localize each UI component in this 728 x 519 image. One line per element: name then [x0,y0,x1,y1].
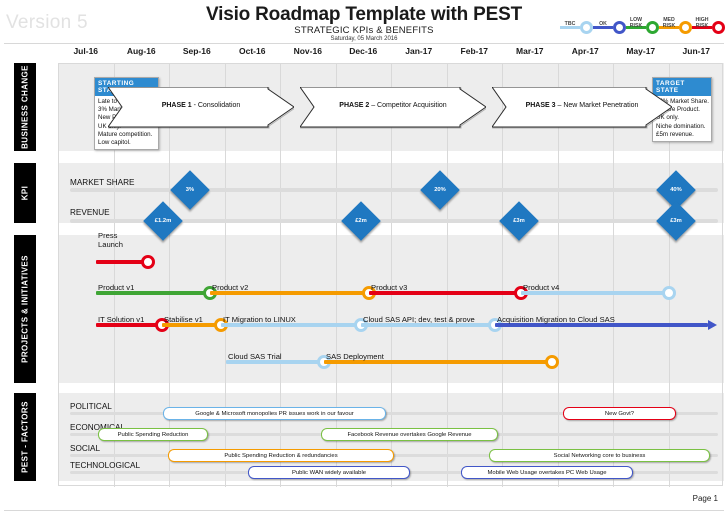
roadmap-canvas: STARTING STATELate to market.3% Market S… [58,63,724,487]
month-header-aug-16: Aug-16 [114,46,170,56]
timeline-month-header: Jul-16Aug-16Sep-16Oct-16Nov-16Dec-16Jan-… [0,46,728,62]
pest-pill-label: Public Spending Reduction [118,432,189,438]
footer-divider [4,510,724,511]
month-header-feb-17: Feb-17 [447,46,503,56]
project-label: Product v3 [371,283,407,292]
legend-label: TBC [558,22,582,27]
phase-label-3: PHASE 3 – New Market Penetration [492,102,672,109]
month-header-sep-16: Sep-16 [169,46,225,56]
kpi-row-label-revenue: REVENUE [70,208,110,217]
project-label: Acquisition Migration to Cloud SAS [497,315,615,324]
project-label: Stabilise v1 [164,315,203,324]
project-arrow-head-icon [708,320,717,330]
kpi-milestone-value: £3m [499,218,539,224]
section-tab-label: PEST - FACTORS [21,401,30,473]
kpi-milestone-value: £3m [656,218,696,224]
pest-pill-label: Public Spending Reduction & redundancies [224,453,337,459]
project-milestone-icon[interactable] [545,355,559,369]
project-label: Cloud SAS API; dev, test & prove [363,315,475,324]
pest-row-label-social: SOCIAL [70,444,100,453]
pest-pill-label: Facebook Revenue overtakes Google Revenu… [347,432,471,438]
project-label: PressLaunch [98,232,123,249]
pest-pill-label: Social Networking core to business [554,453,646,459]
legend-label: OK [591,22,615,27]
month-header-mar-17: Mar-17 [502,46,558,56]
project-label: IT Solution v1 [98,315,144,324]
kpi-milestone-value: 20% [420,187,460,193]
month-header-apr-17: Apr-17 [558,46,614,56]
risk-legend: TBCOKLOWRISKMEDRISKHIGHRISK [560,6,725,40]
project-label: IT Migration to LINUX [223,315,296,324]
legend-item-med-risk: MEDRISK [659,14,692,40]
legend-item-low-risk: LOWRISK [626,14,659,40]
kpi-row-label-market-share: MARKET SHARE [70,178,134,187]
pest-pill[interactable]: Public Spending Reduction & redundancies [168,449,394,462]
phase-label-1: PHASE 1 - Consolidation [108,102,294,109]
pest-pill[interactable]: Mobile Web Usage overtakes PC Web Usage [461,466,633,479]
month-header-dec-16: Dec-16 [336,46,392,56]
month-header-jan-17: Jan-17 [391,46,447,56]
section-tab-business-change: BUSINESS CHANGE [14,63,36,151]
section-tab-pest-factors: PEST - FACTORS [14,393,36,481]
kpi-milestone-value: £2m [341,218,381,224]
legend-item-high-risk: HIGHRISK [692,14,725,40]
phase-arrow-1: PHASE 1 - Consolidation [108,87,294,127]
project-label: Cloud SAS Trial [228,352,282,361]
pest-pill-label: New Govt? [605,411,634,417]
project-milestone-icon[interactable] [141,255,155,269]
section-tab-projects-initiatives: PROJECTS & INITIATIVES [14,235,36,383]
header-divider [4,43,724,44]
phase-arrow-shape [492,87,672,131]
pest-pill[interactable]: Facebook Revenue overtakes Google Revenu… [321,428,498,441]
month-header-jul-16: Jul-16 [58,46,114,56]
phase-arrow-2: PHASE 2 – Competitor Acquisition [300,87,486,127]
section-tab-label: BUSINESS CHANGE [21,65,30,149]
pest-pill-label: Google & Microsoft monopolies PR issues … [195,411,353,417]
phase-label-2: PHASE 2 – Competitor Acquisition [300,102,486,109]
legend-item-ok: OK [593,14,626,40]
kpi-milestone-value: 40% [656,187,696,193]
kpi-milestone-value: 3% [170,187,210,193]
section-tab-label: PROJECTS & INITIATIVES [21,255,30,363]
pest-row-label-technological: TECHNOLOGICAL [70,461,140,470]
page-number: Page 1 [693,494,718,503]
month-header-oct-16: Oct-16 [225,46,281,56]
legend-item-tbc: TBC [560,14,593,40]
state-item: Low capitol. [98,139,155,147]
legend-label: MEDRISK [657,18,681,29]
month-header-may-17: May-17 [613,46,669,56]
pest-pill[interactable]: New Govt? [563,407,676,420]
kpi-row-baseline [70,188,718,192]
pest-pill[interactable]: Public Spending Reduction [98,428,208,441]
month-header-nov-16: Nov-16 [280,46,336,56]
project-label: SAS Deployment [326,352,384,361]
project-label: Product v2 [212,283,248,292]
pest-pill[interactable]: Social Networking core to business [489,449,710,462]
pest-pill-label: Public WAN widely available [292,470,366,476]
project-label: Product v4 [523,283,559,292]
phase-arrow-shape [300,87,486,131]
pest-pill[interactable]: Google & Microsoft monopolies PR issues … [163,407,386,420]
state-item: Mature competition. [98,131,155,139]
legend-label: HIGHRISK [690,18,714,29]
phase-arrow-shape [108,87,294,131]
phase-arrow-3: PHASE 3 – New Market Penetration [492,87,672,127]
pest-pill-label: Mobile Web Usage overtakes PC Web Usage [488,470,607,476]
section-tab-label: KPI [21,186,30,201]
pest-pill[interactable]: Public WAN widely available [248,466,410,479]
month-header-jun-17: Jun-17 [669,46,725,56]
section-tab-kpi: KPI [14,163,36,223]
pest-row-label-political: POLITICAL [70,402,112,411]
project-milestone-icon[interactable] [662,286,676,300]
legend-label: LOWRISK [624,18,648,29]
state-item: £5m revenue. [656,131,708,139]
project-label: Product v1 [98,283,134,292]
kpi-milestone-value: £1.2m [143,218,183,224]
